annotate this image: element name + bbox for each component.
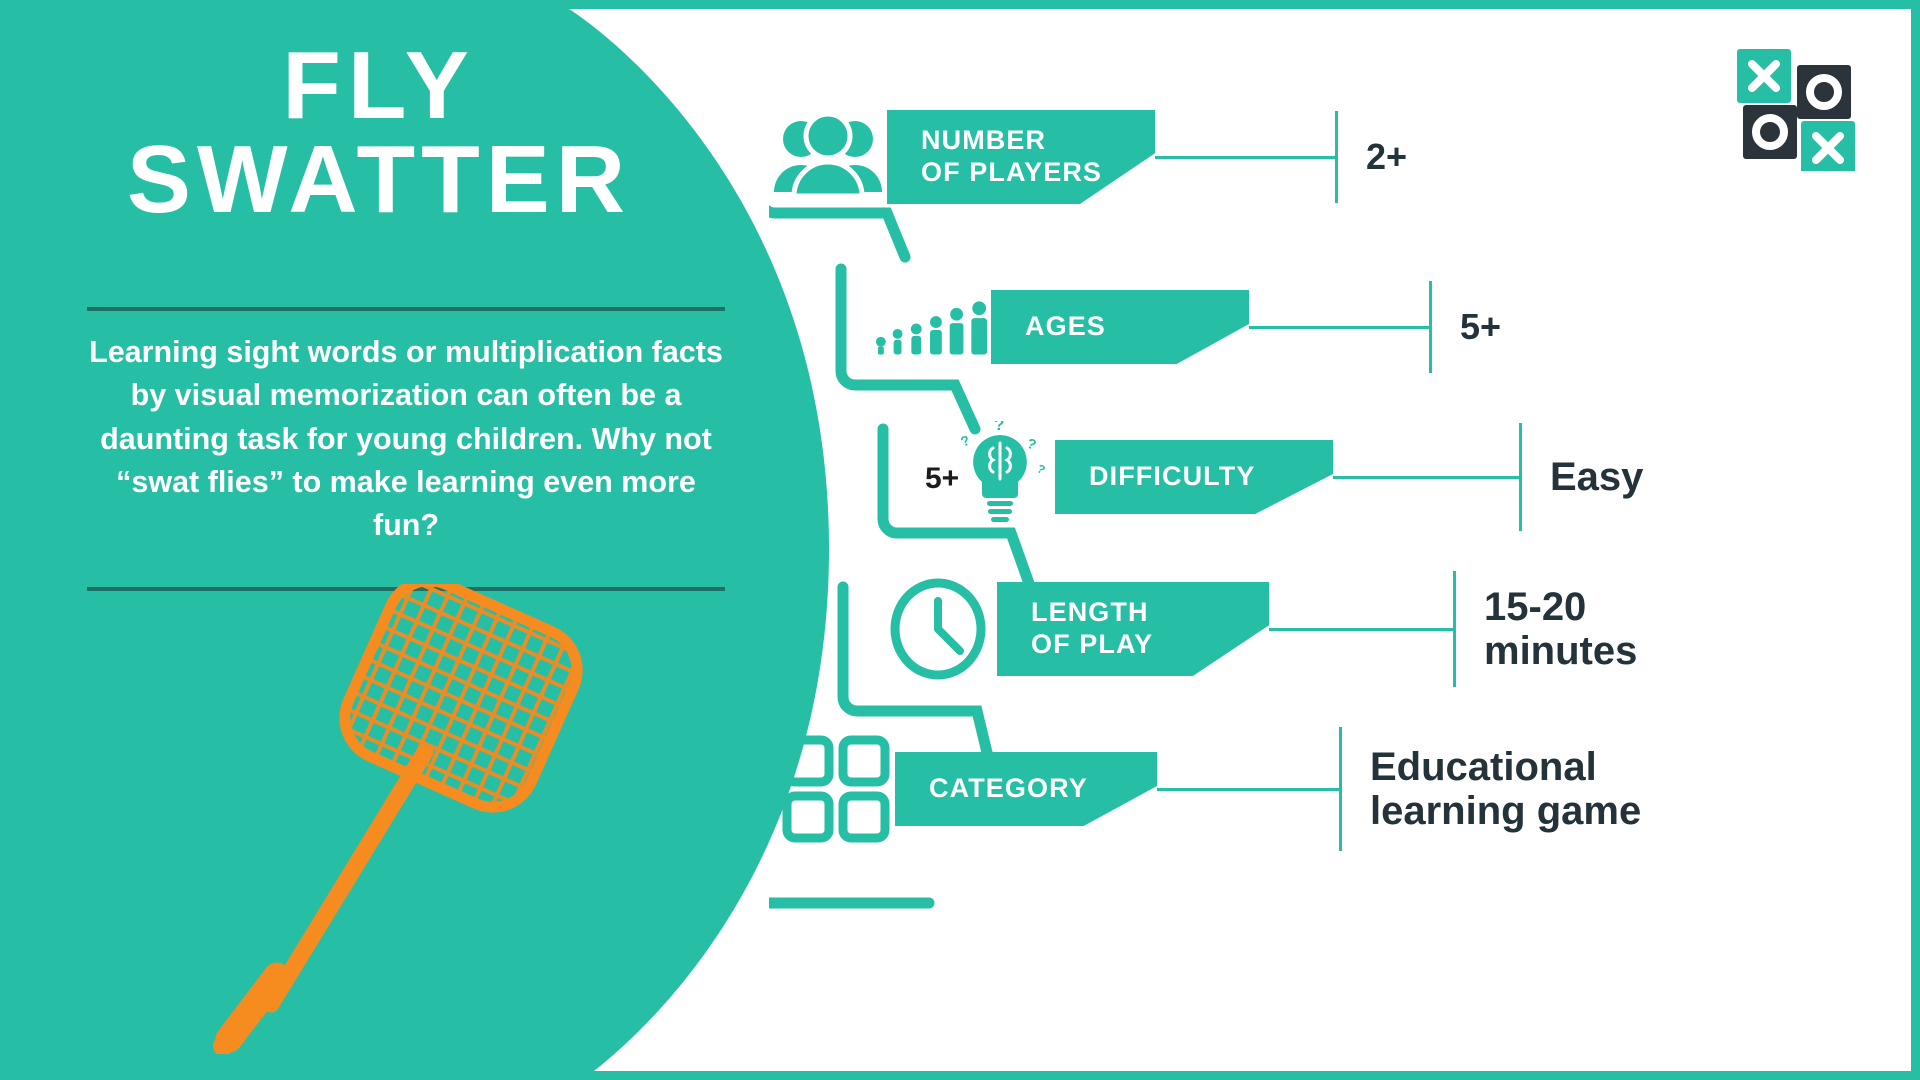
info-row-difficulty[interactable]: 5+ ? xyxy=(915,417,1643,537)
info-row-category[interactable]: CATEGORY Educational learning game xyxy=(777,729,1641,849)
clock-icon xyxy=(879,570,997,688)
row-value-category: Educational learning game xyxy=(1342,745,1641,833)
left-panel-content: FLY SWATTER Learning sight words or mult… xyxy=(9,9,749,1080)
row-value-ages: 5+ xyxy=(1432,307,1501,347)
row-value-length: 15-20 minutes xyxy=(1456,585,1637,673)
svg-text:?: ? xyxy=(1025,435,1039,453)
connector-players xyxy=(1155,156,1335,159)
description-text: Learning sight words or multiplication f… xyxy=(87,331,725,547)
row-label-length: LENGTH OF PLAY xyxy=(1031,597,1153,661)
connector-category xyxy=(1157,788,1339,791)
banner-ages: AGES xyxy=(991,290,1249,364)
logo-cell-o-dark-2 xyxy=(1743,105,1797,159)
divider-top xyxy=(87,307,725,311)
info-row-players[interactable]: NUMBER OF PLAYERS 2+ xyxy=(769,97,1407,217)
group-of-people-icon xyxy=(769,98,887,216)
fly-swatter-illustration xyxy=(179,584,599,1054)
row-value-difficulty: Easy xyxy=(1522,455,1643,499)
banner-category: CATEGORY xyxy=(895,752,1157,826)
row-label-difficulty: DIFFICULTY xyxy=(1089,461,1255,493)
connector-ages xyxy=(1249,326,1429,329)
tic-tac-toe-logo xyxy=(1735,47,1859,171)
title-line-2: SWATTER xyxy=(9,133,749,227)
banner-players: NUMBER OF PLAYERS xyxy=(887,110,1155,204)
infographic-poster: FLY SWATTER Learning sight words or mult… xyxy=(0,0,1920,1080)
logo-cell-o-dark xyxy=(1797,65,1851,119)
page-title: FLY SWATTER xyxy=(9,39,749,227)
row-label-category: CATEGORY xyxy=(929,773,1088,805)
connector-difficulty xyxy=(1333,476,1519,479)
title-line-1: FLY xyxy=(282,32,476,139)
row-value-players: 2+ xyxy=(1338,137,1407,177)
grid-squares-icon xyxy=(777,730,895,848)
row-label-players: NUMBER OF PLAYERS xyxy=(921,125,1102,189)
svg-text:?: ? xyxy=(1035,461,1048,477)
info-row-ages[interactable]: AGES 5+ xyxy=(873,267,1501,387)
row-label-ages: AGES xyxy=(1025,311,1106,343)
brain-lightbulb-icon: 5+ ? xyxy=(915,418,1055,536)
difficulty-age-badge: 5+ xyxy=(925,462,959,496)
connector-length xyxy=(1269,628,1453,631)
svg-text:?: ? xyxy=(994,421,1004,434)
growth-stages-people-icon xyxy=(873,268,991,386)
banner-length: LENGTH OF PLAY xyxy=(997,582,1269,676)
svg-text:?: ? xyxy=(958,432,972,450)
info-row-length[interactable]: LENGTH OF PLAY 15-20 minutes xyxy=(879,569,1637,689)
banner-difficulty: DIFFICULTY xyxy=(1055,440,1333,514)
